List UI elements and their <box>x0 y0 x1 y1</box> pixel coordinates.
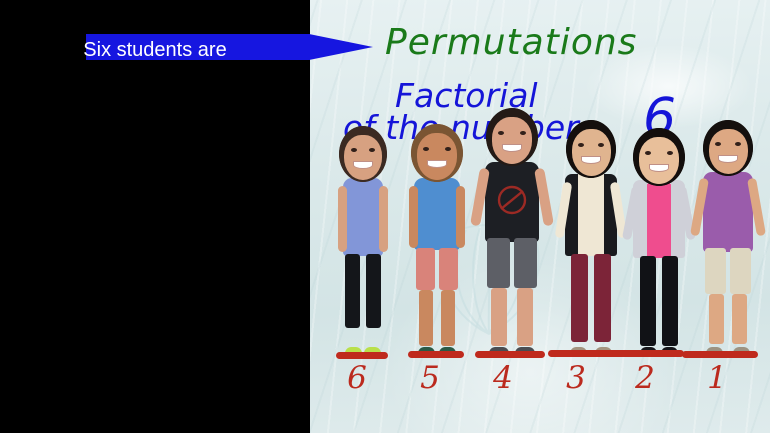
student-legs-4 <box>571 254 611 344</box>
floor-bar-5 <box>612 350 684 357</box>
question-panel <box>0 0 310 433</box>
student-figure-1 <box>332 126 394 356</box>
student-head-3 <box>486 108 538 166</box>
student-arm-right-2 <box>456 186 465 248</box>
floor-bar-6 <box>682 351 758 358</box>
student-torso-5 <box>644 182 674 258</box>
student-shirt-graphic-3 <box>493 184 531 216</box>
student-shorts-3 <box>487 238 537 288</box>
subtitle-factorial: Factorial <box>395 76 538 115</box>
student-shorts-2 <box>416 248 458 292</box>
student-head-5 <box>633 128 685 186</box>
student-legs-2 <box>419 290 455 346</box>
floor-bar-4 <box>548 350 620 357</box>
student-arm-left-2 <box>409 186 418 248</box>
floor-bar-3 <box>475 351 545 358</box>
floor-number-2: 2 <box>628 360 662 396</box>
student-torso-6 <box>703 172 753 252</box>
title-permutations: Permutations <box>385 22 637 63</box>
student-figure-2 <box>404 124 470 356</box>
floor-number-5: 5 <box>413 360 447 396</box>
student-torso-2 <box>414 178 460 250</box>
floor-bar-2 <box>408 351 464 358</box>
student-arm-right-1 <box>379 186 388 252</box>
student-figure-6 <box>692 120 764 356</box>
floor-number-3: 3 <box>559 360 593 396</box>
student-legs-6 <box>709 294 747 344</box>
student-figure-5 <box>626 128 692 356</box>
student-shorts-6 <box>705 248 751 294</box>
student-torso-1 <box>343 178 383 256</box>
student-figure-4 <box>556 120 626 356</box>
student-figure-3 <box>473 108 551 356</box>
student-legs-1 <box>345 254 381 346</box>
floor-number-1: 1 <box>700 360 734 396</box>
permutations-slide: Permutations Factorial of the number 6 <box>0 0 770 433</box>
student-head-1 <box>339 126 387 182</box>
floor-bar-1 <box>336 352 388 359</box>
student-head-2 <box>411 124 463 182</box>
student-head-6 <box>703 120 753 176</box>
student-legs-5 <box>640 256 678 348</box>
floor-number-6: 6 <box>340 360 374 396</box>
question-line-1: Six students are <box>0 38 310 62</box>
callout-arrow-icon <box>309 27 373 67</box>
floor-number-4: 4 <box>486 360 520 396</box>
student-legs-3 <box>491 288 533 346</box>
student-arm-left-1 <box>338 186 347 252</box>
student-head-4 <box>566 120 616 178</box>
